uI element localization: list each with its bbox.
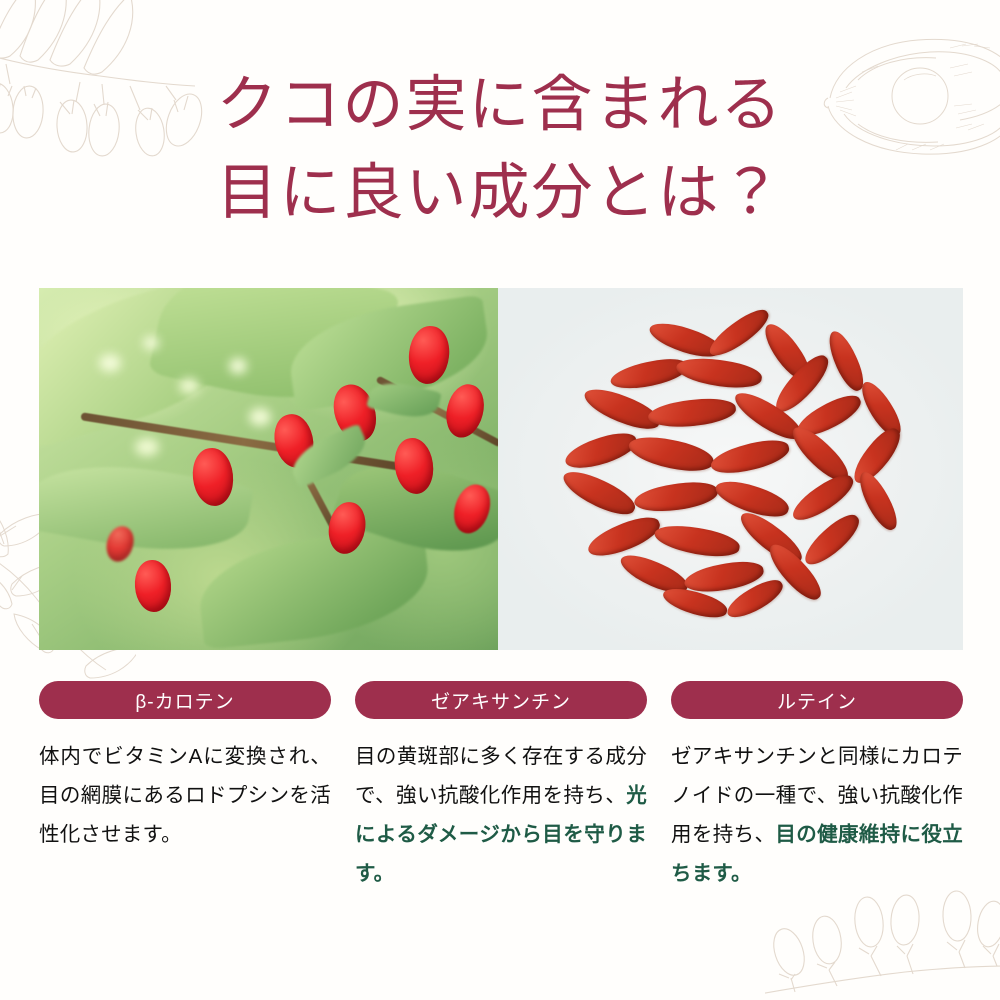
ingredient-columns: β-カロテン 体内でビタミンAに変換され、目の網膜にあるロドプシンを活性化させま… bbox=[39, 681, 963, 893]
fresh-goji-berries-photo bbox=[39, 288, 498, 650]
description-beta-carotene: 体内でビタミンAに変換され、目の網膜にあるロドプシンを活性化させます。 bbox=[39, 737, 331, 854]
description-plain-text: 体内でビタミンAに変換され、目の網膜にあるロドプシンを活性化させます。 bbox=[39, 745, 331, 846]
goji-branch-line-art-bottom-right bbox=[765, 878, 1000, 1000]
title-line-1: クコの実に含まれる bbox=[0, 62, 1000, 150]
description-lutein: ゼアキサンチンと同様にカロテノイドの一種で、強い抗酸化作用を持ち、目の健康維持に… bbox=[671, 737, 963, 893]
photo-strip bbox=[39, 288, 963, 650]
ingredient-column-zeaxanthin: ゼアキサンチン 目の黄斑部に多く存在する成分で、強い抗酸化作用を持ち、光によるダ… bbox=[355, 681, 647, 893]
description-zeaxanthin: 目の黄斑部に多く存在する成分で、強い抗酸化作用を持ち、光によるダメージから目を守… bbox=[355, 737, 647, 893]
ingredient-column-beta-carotene: β-カロテン 体内でビタミンAに変換され、目の網膜にあるロドプシンを活性化させま… bbox=[39, 681, 331, 893]
pill-label-zeaxanthin: ゼアキサンチン bbox=[355, 681, 647, 719]
page-title: クコの実に含まれる 目に良い成分とは？ bbox=[0, 62, 1000, 238]
infographic-page: クコの実に含まれる 目に良い成分とは？ bbox=[0, 0, 1000, 1000]
pill-label-beta-carotene: β-カロテン bbox=[39, 681, 331, 719]
ingredient-column-lutein: ルテイン ゼアキサンチンと同様にカロテノイドの一種で、強い抗酸化作用を持ち、目の… bbox=[671, 681, 963, 893]
title-line-2: 目に良い成分とは？ bbox=[0, 150, 1000, 238]
description-plain-text: 目の黄斑部に多く存在する成分で、強い抗酸化作用を持ち、 bbox=[355, 745, 647, 807]
dried-goji-berries-photo bbox=[498, 288, 963, 650]
pill-label-lutein: ルテイン bbox=[671, 681, 963, 719]
